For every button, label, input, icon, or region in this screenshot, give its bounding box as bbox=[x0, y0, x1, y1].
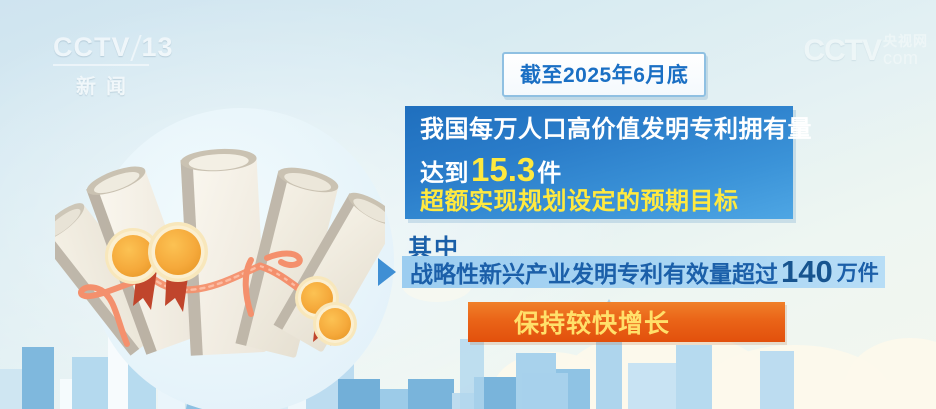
skyline-building bbox=[0, 369, 22, 409]
broadcast-graphic-stage: CCTV 13 新闻 CCTV 央视网 com 截至2025年6月底 我国每万人… bbox=[0, 0, 936, 409]
skyline-building bbox=[676, 345, 712, 409]
cctv-logo-sub: 新闻 bbox=[53, 70, 149, 99]
triangle-right-icon bbox=[378, 258, 396, 286]
watermark-cctv-text: CCTV bbox=[803, 36, 881, 66]
stat-line-2: 达到 15.3 件 bbox=[420, 153, 562, 186]
skyline-building bbox=[522, 373, 568, 409]
growth-callout-label: 保持较快增长 bbox=[514, 304, 670, 340]
stat-line-2-prefix: 达到 bbox=[420, 162, 469, 186]
cctv-logo-number: 13 bbox=[142, 32, 174, 63]
skyline-building bbox=[22, 347, 54, 409]
skyline-building bbox=[380, 389, 410, 409]
stat-line-2-suffix: 件 bbox=[537, 162, 562, 186]
cctv-logo-text: CCTV bbox=[53, 32, 131, 63]
logo-slash-icon bbox=[130, 35, 141, 61]
headline-stat-box: 我国每万人口高价值发明专利拥有量 达到 15.3 件 超额实现规划设定的预期目标 bbox=[405, 106, 793, 219]
cctv13-logo: CCTV 13 新闻 bbox=[53, 32, 181, 94]
skyline-building bbox=[408, 379, 454, 409]
skyline-building bbox=[628, 363, 676, 409]
stat-line-3: 超额实现规划设定的预期目标 bbox=[420, 190, 739, 214]
date-banner: 截至2025年6月底 bbox=[502, 52, 706, 97]
watermark-com-text: com bbox=[883, 49, 928, 68]
skyline-building bbox=[338, 379, 380, 409]
patent-scrolls-illustration bbox=[55, 148, 385, 373]
growth-callout-banner: 保持较快增长 bbox=[468, 302, 785, 342]
strategic-row-unit: 万件 bbox=[837, 257, 879, 287]
skyline-building bbox=[760, 351, 794, 409]
strategic-industry-stat-bar: 战略性新兴产业发明专利有效量超过 140 万件 bbox=[402, 256, 885, 288]
date-banner-label: 截至2025年6月底 bbox=[520, 64, 688, 87]
stat-line-1: 我国每万人口高价值发明专利拥有量 bbox=[420, 118, 812, 142]
strategic-row-value: 140 bbox=[781, 254, 833, 290]
stat-value-highlight: 15.3 bbox=[471, 153, 535, 186]
watermark-cn-text: 央视网 bbox=[883, 34, 928, 49]
strategic-row-text: 战略性新兴产业发明专利有效量超过 bbox=[410, 255, 778, 289]
cctv-com-watermark: CCTV 央视网 com bbox=[803, 34, 928, 68]
skyline-building bbox=[460, 339, 484, 409]
logo-underline bbox=[53, 64, 149, 66]
